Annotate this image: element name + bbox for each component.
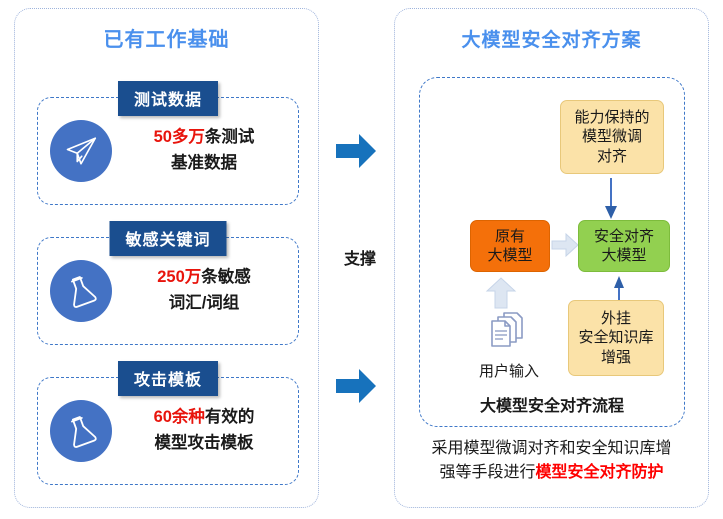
user-input-group: 用户输入 [466,310,552,381]
node-kb-line-2: 安全知识库 [578,328,653,348]
stat-unit-1: 条测试 [205,128,255,146]
right-arrow-icon [550,230,580,265]
right-panel: 大模型安全对齐方案 能力保持的 模型微调 对齐 原有 大模型 [394,8,709,508]
node-origin-line-2: 大模型 [487,246,532,266]
flask-icon [50,260,112,322]
right-panel-caption: 采用模型微调对齐和安全知识库增 强等手段进行模型安全对齐防护 [409,437,694,485]
card-text-attack-templates: 60余种有效的 模型攻击模板 [116,405,298,456]
card-text-test-data: 50多万条测试 基准数据 [116,125,298,176]
node-knowledge-base: 外挂 安全知识库 增强 [568,300,664,376]
support-label: 支撑 [334,250,386,270]
right-arrow-icon [334,131,378,176]
stat-unit-3: 有效的 [205,408,255,426]
card-sensitive-keywords: 敏感关键词 250万条敏感 词汇/词组 [37,237,299,345]
node-finetune-line-1: 能力保持的 [574,108,649,128]
right-arrow-icon [334,366,378,411]
node-aligned-model: 安全对齐 大模型 [578,220,670,272]
node-finetune-line-3: 对齐 [574,147,649,167]
stat-value-2: 250万 [157,268,201,286]
stat-value-1: 50多万 [154,128,205,146]
node-finetune-line-2: 模型微调 [574,127,649,147]
card-text-sensitive-keywords: 250万条敏感 词汇/词组 [116,265,298,316]
node-original-model: 原有 大模型 [470,220,550,272]
node-origin-line-1: 原有 [487,227,532,247]
caption-highlight: 模型安全对齐防护 [536,464,664,481]
stat-sub-3: 模型攻击模板 [116,431,292,457]
card-attack-templates: 攻击模板 60余种有效的 模型攻击模板 [37,377,299,485]
card-test-data: 测试数据 50多万条测试 基准数据 [37,97,299,205]
left-panel-title: 已有工作基础 [15,23,318,52]
node-kb-line-1: 外挂 [578,309,653,329]
documents-icon [486,310,532,354]
down-arrow-icon [602,178,620,225]
stat-sub-2: 词汇/词组 [116,291,292,317]
left-panel: 已有工作基础 测试数据 50多万条测试 基准数据 敏感关键词 [14,8,319,508]
node-finetune-alignment: 能力保持的 模型微调 对齐 [560,100,664,174]
node-kb-line-3: 增强 [578,348,653,368]
user-input-caption: 用户输入 [466,360,552,381]
stat-sub-1: 基准数据 [116,151,292,177]
caption-line-1: 采用模型微调对齐和安全知识库增 [431,440,671,457]
flow-diagram-caption: 大模型安全对齐流程 [420,392,684,416]
stat-value-3: 60余种 [154,408,205,426]
flask-icon [50,400,112,462]
node-aligned-line-1: 安全对齐 [594,227,654,247]
paper-plane-icon [50,120,112,182]
stat-unit-2: 条敏感 [201,268,251,286]
node-aligned-line-2: 大模型 [594,246,654,266]
right-panel-title: 大模型安全对齐方案 [395,25,708,52]
caption-line-2a: 强等手段进行 [439,464,535,481]
alignment-flow-diagram: 能力保持的 模型微调 对齐 原有 大模型 [419,77,685,427]
